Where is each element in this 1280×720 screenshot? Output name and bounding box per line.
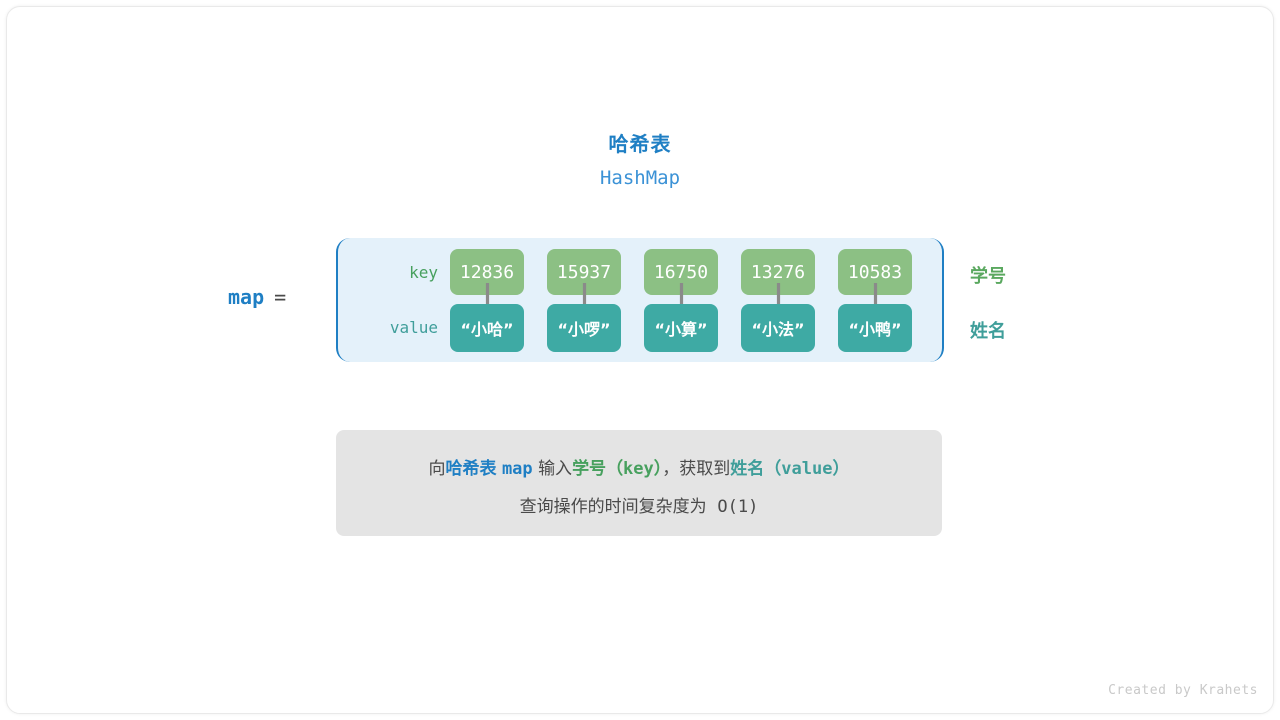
caption-emphasis-hashmap: 哈希表 [446, 459, 497, 479]
caption-text: ，获取到 [662, 459, 730, 479]
value-cell: “小鸭” [838, 304, 912, 352]
footer-credit: Created by Krahets [1108, 683, 1258, 698]
row-labels: key value [338, 238, 450, 362]
value-cell: “小法” [741, 304, 815, 352]
caption-text: 查询操作的时间复杂度为 [520, 497, 707, 517]
variable-name: map [228, 285, 264, 309]
page-subtitle: HashMap [0, 165, 1280, 191]
equals-sign: = [274, 285, 286, 309]
row-label-key: key [409, 263, 438, 282]
variable-label: map= [228, 285, 338, 309]
value-cell: “小啰” [547, 304, 621, 352]
hash-table-container: key value 12836 “小哈” 15937 “小啰” [336, 238, 944, 362]
caption-box: 向哈希表 map 输入学号（key），获取到姓名（value） 查询操作的时间复… [336, 430, 942, 536]
value-cell: “小哈” [450, 304, 524, 352]
caption-emphasis-key: （key） [606, 459, 662, 479]
caption-emphasis-map: map [502, 459, 533, 479]
side-legend: 学号 姓名 [962, 238, 1102, 362]
hash-entry-column: 16750 “小算” [644, 238, 718, 362]
page-title: 哈希表 [0, 130, 1280, 158]
caption-line-2: 查询操作的时间复杂度为 O(1) [336, 492, 942, 517]
caption-text: 输入 [538, 459, 572, 479]
hash-entry-column: 15937 “小啰” [547, 238, 621, 362]
diagram-page: 哈希表 HashMap map= key value 12836 “小哈” 15… [0, 0, 1280, 720]
hash-entry-column: 10583 “小鸭” [838, 238, 912, 362]
side-label-key: 学号 [970, 262, 1006, 288]
caption-line-1: 向哈希表 map 输入学号（key），获取到姓名（value） [336, 454, 942, 479]
caption-emphasis-value: （value） [764, 459, 849, 479]
caption-complexity: O(1) [717, 497, 758, 517]
hash-entry-column: 12836 “小哈” [450, 238, 524, 362]
caption-text: 向 [429, 459, 446, 479]
caption-emphasis-xuehao: 学号 [572, 459, 606, 479]
row-label-value: value [390, 318, 438, 337]
hash-entry-column: 13276 “小法” [741, 238, 815, 362]
value-cell: “小算” [644, 304, 718, 352]
title-block: 哈希表 HashMap [0, 130, 1280, 191]
caption-emphasis-xingming: 姓名 [730, 459, 764, 479]
side-label-value: 姓名 [970, 317, 1006, 343]
